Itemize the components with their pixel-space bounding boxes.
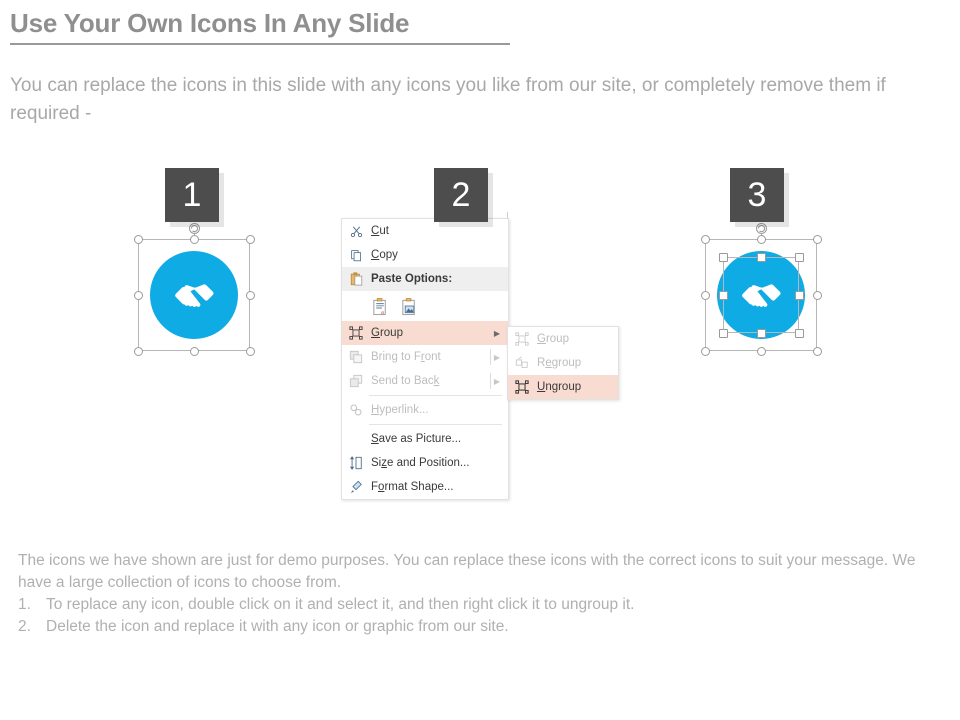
- bring-to-front-icon: [346, 348, 366, 366]
- list-item-text: Delete the icon and replace it with any …: [46, 616, 509, 638]
- step-badge-2: 2: [434, 168, 488, 222]
- submenu-item-ungroup[interactable]: Ungroup: [508, 375, 618, 399]
- resize-handle-sw[interactable]: [134, 347, 143, 356]
- inner-handle-se[interactable]: [795, 329, 804, 338]
- scissors-icon: [346, 222, 366, 240]
- chevron-right-icon: ▶: [494, 329, 502, 338]
- format-shape-icon: [346, 478, 366, 496]
- resize-handle-n[interactable]: [190, 235, 199, 244]
- submenu-item-regroup: Regroup: [508, 351, 618, 375]
- regroup-icon: [512, 354, 532, 372]
- chevron-right-icon: ▶: [494, 377, 502, 386]
- chevron-right-icon: ▶: [494, 353, 502, 362]
- resize-handle-s[interactable]: [190, 347, 199, 356]
- paste-picture-icon[interactable]: [398, 295, 420, 317]
- icon-selection-step-3[interactable]: [700, 222, 822, 362]
- paste-keep-source-formatting-icon[interactable]: a: [369, 295, 391, 317]
- group-submenu[interactable]: Group Regroup Ungroup: [507, 326, 619, 400]
- menu-item-bring-to-front: Bring to Front ▶: [342, 345, 508, 369]
- inner-handle-sw[interactable]: [719, 329, 728, 338]
- menu-item-cut[interactable]: Cut: [342, 219, 508, 243]
- footer-list: 1. To replace any icon, double click on …: [18, 594, 943, 638]
- menu-separator: [369, 424, 502, 425]
- menu-item-copy[interactable]: Copy: [342, 243, 508, 267]
- group-icon: [512, 330, 532, 348]
- menu-separator: [369, 395, 502, 396]
- menu-item-save-as-picture[interactable]: Save as Picture...: [342, 427, 508, 451]
- group-icon: [346, 324, 366, 342]
- menu-item-format-shape[interactable]: Format Shape...: [342, 475, 508, 499]
- menu-item-hyperlink: Hyperlink...: [342, 398, 508, 422]
- inner-handle-n[interactable]: [757, 253, 766, 262]
- submenu-item-label: Ungroup: [537, 381, 612, 393]
- menu-item-group[interactable]: Group ▶: [342, 321, 508, 345]
- list-item-number: 1.: [18, 594, 46, 616]
- blank-icon: [346, 430, 366, 448]
- send-to-back-icon: [346, 372, 366, 390]
- list-item: 1. To replace any icon, double click on …: [18, 594, 943, 616]
- list-item: 2. Delete the icon and replace it with a…: [18, 616, 943, 638]
- menu-item-size-and-position[interactable]: Size and Position...: [342, 451, 508, 475]
- inner-handle-w[interactable]: [719, 291, 728, 300]
- size-position-icon: [346, 454, 366, 472]
- copy-icon: [346, 246, 366, 264]
- rotation-handle-icon[interactable]: [755, 222, 768, 235]
- inner-handle-nw[interactable]: [719, 253, 728, 262]
- paste-icon: [346, 270, 366, 288]
- resize-handle-nw[interactable]: [701, 235, 710, 244]
- menu-item-label: Copy: [371, 249, 502, 261]
- menu-item-send-to-back: Send to Back ▶: [342, 369, 508, 393]
- resize-handle-e[interactable]: [813, 291, 822, 300]
- handshake-icon-circle[interactable]: [150, 251, 238, 339]
- resize-handle-w[interactable]: [134, 291, 143, 300]
- menu-item-label: Send to Back: [371, 375, 494, 387]
- menu-item-divider: [490, 349, 491, 365]
- ungroup-icon: [512, 378, 532, 396]
- list-item-number: 2.: [18, 616, 46, 638]
- page-title: Use Your Own Icons In Any Slide: [10, 8, 409, 39]
- resize-handle-s[interactable]: [757, 347, 766, 356]
- menu-item-label: Format Shape...: [371, 481, 502, 493]
- list-item-text: To replace any icon, double click on it …: [46, 594, 634, 616]
- inner-handle-e[interactable]: [795, 291, 804, 300]
- resize-handle-ne[interactable]: [813, 235, 822, 244]
- rotation-handle-icon[interactable]: [188, 222, 201, 235]
- page-subtitle: You can replace the icons in this slide …: [10, 72, 955, 128]
- title-underline: [10, 43, 510, 45]
- resize-handle-sw[interactable]: [701, 347, 710, 356]
- handshake-icon: [168, 269, 220, 321]
- menu-item-divider: [490, 373, 491, 389]
- footer-paragraph: The icons we have shown are just for dem…: [18, 550, 943, 594]
- slide-canvas: Use Your Own Icons In Any Slide You can …: [0, 0, 960, 720]
- hyperlink-icon: [346, 401, 366, 419]
- resize-handle-w[interactable]: [701, 291, 710, 300]
- resize-handle-n[interactable]: [757, 235, 766, 244]
- inner-handle-s[interactable]: [757, 329, 766, 338]
- paste-options-row[interactable]: a: [342, 291, 508, 321]
- resize-handle-se[interactable]: [813, 347, 822, 356]
- context-menu[interactable]: Cut Copy Paste Options: a: [341, 218, 509, 500]
- footer-notes: The icons we have shown are just for dem…: [18, 550, 943, 638]
- menu-item-label: Paste Options:: [371, 273, 502, 285]
- menu-item-label: Size and Position...: [371, 457, 502, 469]
- step-badge-1: 1: [165, 168, 219, 222]
- menu-item-label: Cut: [371, 225, 502, 237]
- submenu-item-label: Regroup: [537, 357, 612, 369]
- svg-text:a: a: [380, 309, 383, 316]
- resize-handle-nw[interactable]: [134, 235, 143, 244]
- icon-selection-step-1[interactable]: [133, 222, 255, 362]
- menu-item-label: Bring to Front: [371, 351, 494, 363]
- step-badge-3: 3: [730, 168, 784, 222]
- menu-item-label: Hyperlink...: [371, 404, 502, 416]
- inner-handle-ne[interactable]: [795, 253, 804, 262]
- menu-item-label: Group: [371, 327, 494, 339]
- submenu-item-group: Group: [508, 327, 618, 351]
- resize-handle-ne[interactable]: [246, 235, 255, 244]
- resize-handle-e[interactable]: [246, 291, 255, 300]
- resize-handle-se[interactable]: [246, 347, 255, 356]
- submenu-item-label: Group: [537, 333, 612, 345]
- selection-bounding-box-inner: [723, 257, 799, 333]
- menu-item-label: Save as Picture...: [371, 433, 502, 445]
- menu-item-paste-options: Paste Options:: [342, 267, 508, 291]
